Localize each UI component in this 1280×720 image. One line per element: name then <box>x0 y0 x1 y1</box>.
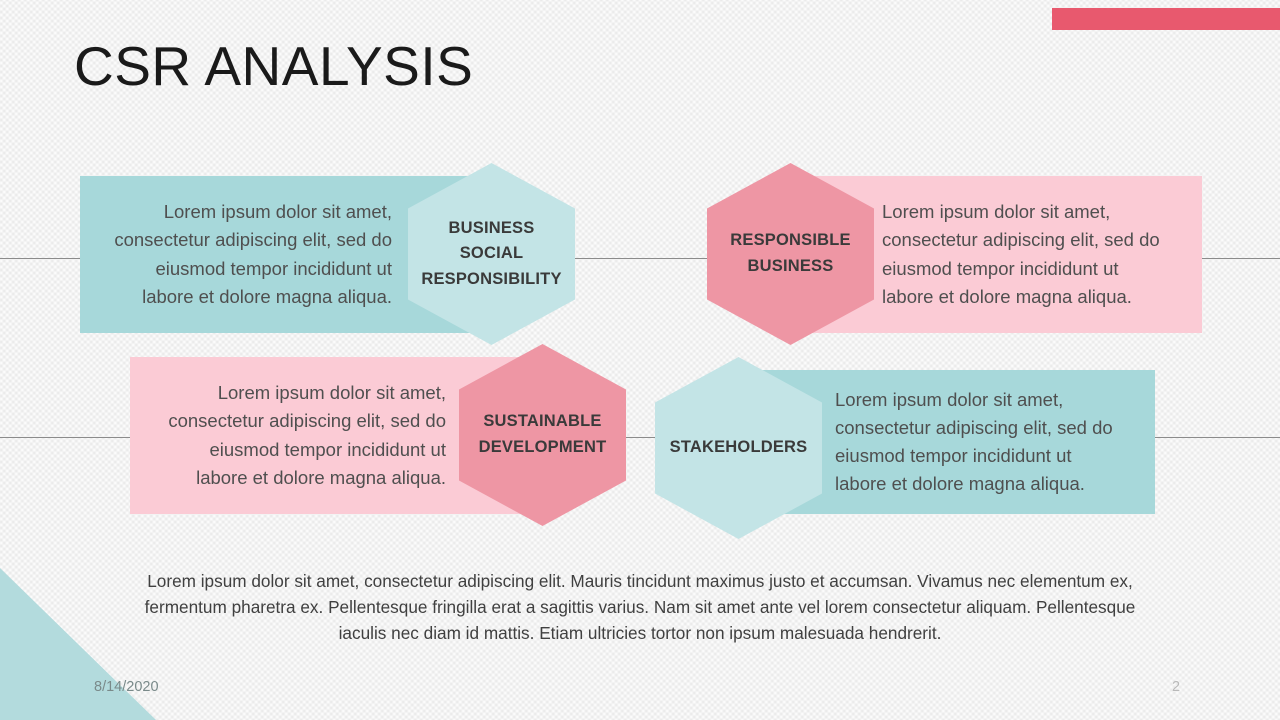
accent-bar-top-right <box>1052 8 1280 30</box>
footer-page-number: 2 <box>1172 679 1180 695</box>
item-1-label: BUSINESS SOCIAL RESPONSIBILITY <box>421 216 561 293</box>
corner-triangle-decoration <box>0 568 156 720</box>
item-2-body: Lorem ipsum dolor sit amet, consectetur … <box>882 198 1160 310</box>
slide-canvas: CSR ANALYSIS Lorem ipsum dolor sit amet,… <box>0 0 1280 720</box>
footer-date: 8/14/2020 <box>94 679 159 695</box>
item-1-body: Lorem ipsum dolor sit amet, consectetur … <box>114 198 392 310</box>
item-2-label: RESPONSIBLE BUSINESS <box>730 228 850 279</box>
item-4-body: Lorem ipsum dolor sit amet, consectetur … <box>835 386 1113 498</box>
item-3-label: SUSTAINABLE DEVELOPMENT <box>479 409 607 460</box>
page-title: CSR ANALYSIS <box>74 36 473 97</box>
item-4-label: STAKEHOLDERS <box>670 435 808 461</box>
footnote-paragraph: Lorem ipsum dolor sit amet, consectetur … <box>140 568 1140 646</box>
item-3-body: Lorem ipsum dolor sit amet, consectetur … <box>168 379 446 491</box>
